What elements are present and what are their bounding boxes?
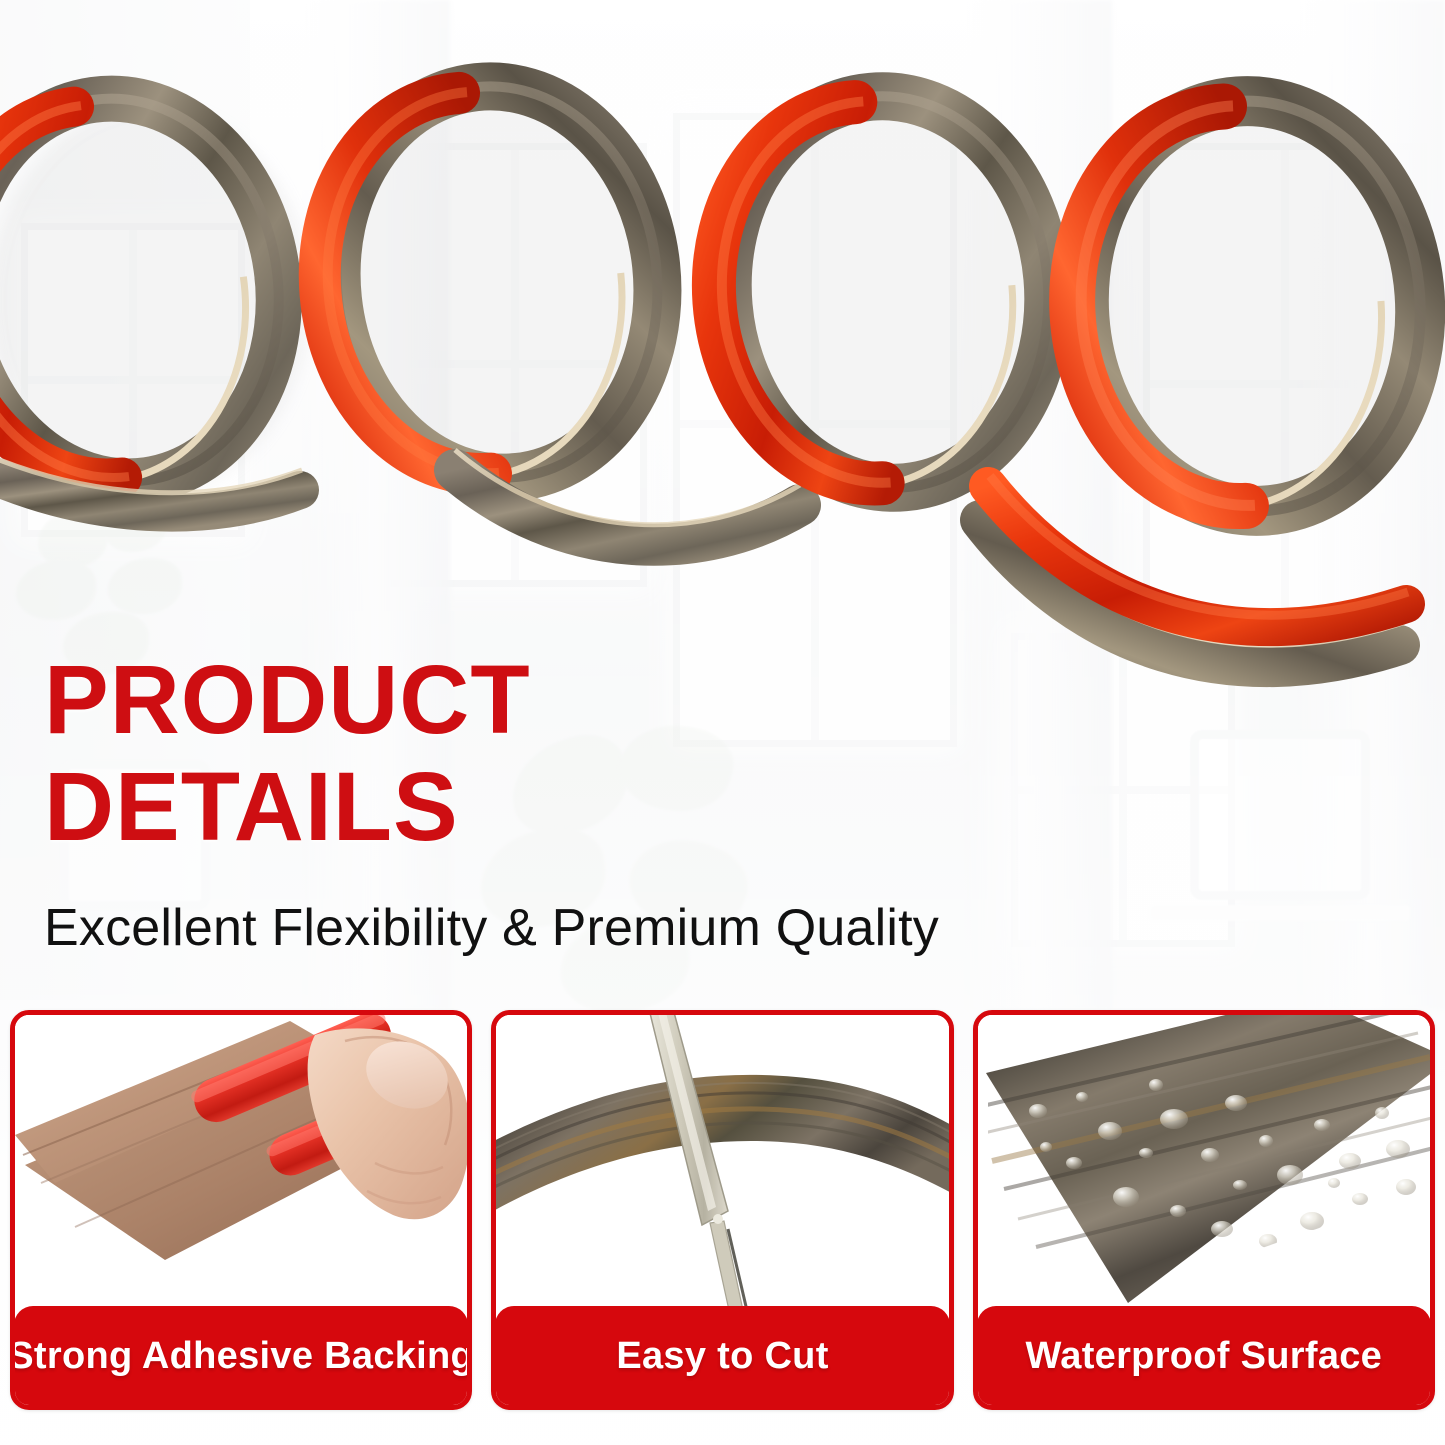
- feature-caption-label: Waterproof Surface: [1026, 1335, 1383, 1378]
- feature-photo-adhesive: [15, 1015, 467, 1310]
- product-detail-infographic: PRODUCT DETAILS Excellent Flexibility & …: [0, 0, 1445, 1445]
- feature-panel-row: Strong Adhesive Backing: [10, 1010, 1435, 1410]
- page-title-line-1: PRODUCT: [44, 652, 804, 747]
- page-subtitle: Excellent Flexibility & Premium Quality: [44, 898, 939, 958]
- feature-panel-cut[interactable]: Easy to Cut: [491, 1010, 953, 1410]
- feature-caption-adhesive: Strong Adhesive Backing: [14, 1306, 468, 1406]
- feature-caption-label: Strong Adhesive Backing: [10, 1335, 472, 1378]
- feature-caption-waterproof: Waterproof Surface: [977, 1306, 1431, 1406]
- feature-caption-label: Easy to Cut: [616, 1335, 828, 1378]
- feature-photo-cut: [496, 1015, 948, 1310]
- feature-caption-cut: Easy to Cut: [495, 1306, 949, 1406]
- feature-panel-waterproof[interactable]: Waterproof Surface: [973, 1010, 1435, 1410]
- feature-panel-adhesive[interactable]: Strong Adhesive Backing: [10, 1010, 472, 1410]
- page-title-line-2: DETAILS: [44, 759, 804, 854]
- feature-photo-waterproof: [978, 1015, 1430, 1310]
- page-title: PRODUCT DETAILS: [44, 652, 804, 854]
